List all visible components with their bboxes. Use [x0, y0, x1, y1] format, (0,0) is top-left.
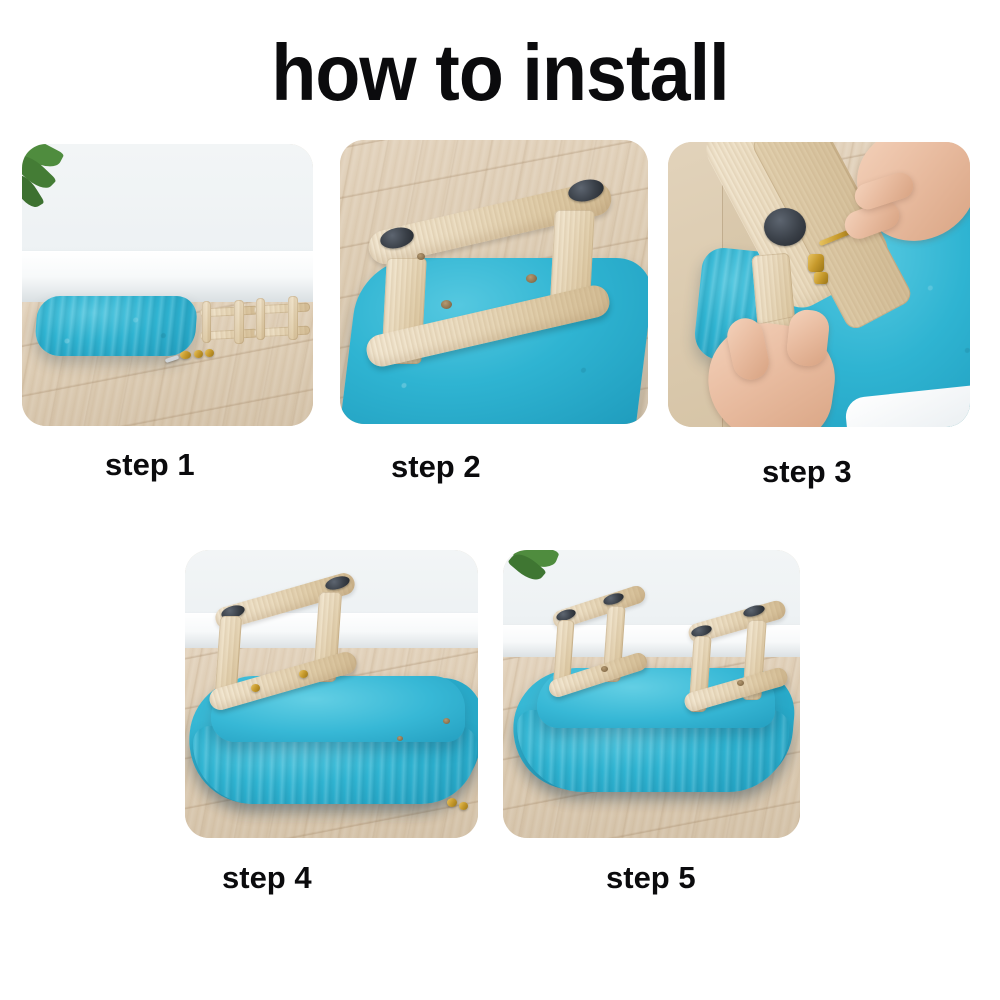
screw-hole: [441, 300, 452, 309]
wood-frame-part: [202, 301, 211, 343]
step-3-label: step 3: [762, 455, 852, 489]
spare-hardware: [459, 802, 468, 810]
step-1-photo: [22, 144, 313, 426]
screw-hole: [443, 718, 450, 724]
step-5-image-card[interactable]: [503, 550, 800, 838]
screw-hardware: [194, 350, 203, 358]
step-4-image-card[interactable]: [185, 550, 478, 838]
brass-screw: [251, 684, 260, 692]
screw-hole: [601, 666, 608, 672]
brass-screw: [299, 670, 308, 678]
page-title: how to install: [40, 30, 960, 116]
step-2-image-card[interactable]: [340, 140, 648, 424]
screw-hole: [417, 253, 425, 260]
step-5-label: step 5: [606, 861, 696, 895]
step-1-image-card[interactable]: [22, 144, 313, 426]
felt-pad: [764, 208, 806, 246]
screw-hole: [397, 736, 403, 741]
step-3-photo: [668, 142, 970, 427]
step-2-label: step 2: [391, 450, 481, 484]
step-5-photo: [503, 550, 800, 838]
brass-screw-tip: [814, 272, 828, 284]
screw-hardware: [205, 349, 214, 357]
brass-screw-head: [808, 254, 824, 272]
wood-frame-part: [234, 300, 244, 344]
step-1-label: step 1: [105, 448, 195, 482]
screw-hole: [737, 680, 744, 686]
install-guide-page: how to install: [0, 0, 1000, 1000]
screw-hardware: [180, 351, 191, 359]
step-4-photo: [185, 550, 478, 838]
step-4-label: step 4: [222, 861, 312, 895]
step-2-photo: [340, 140, 648, 424]
blue-cushion: [34, 296, 198, 356]
step-3-image-card[interactable]: [668, 142, 970, 427]
spare-hardware: [447, 798, 457, 807]
wood-frame-part: [256, 298, 265, 340]
wood-frame-part: [288, 296, 298, 340]
screw-hole: [526, 274, 537, 283]
